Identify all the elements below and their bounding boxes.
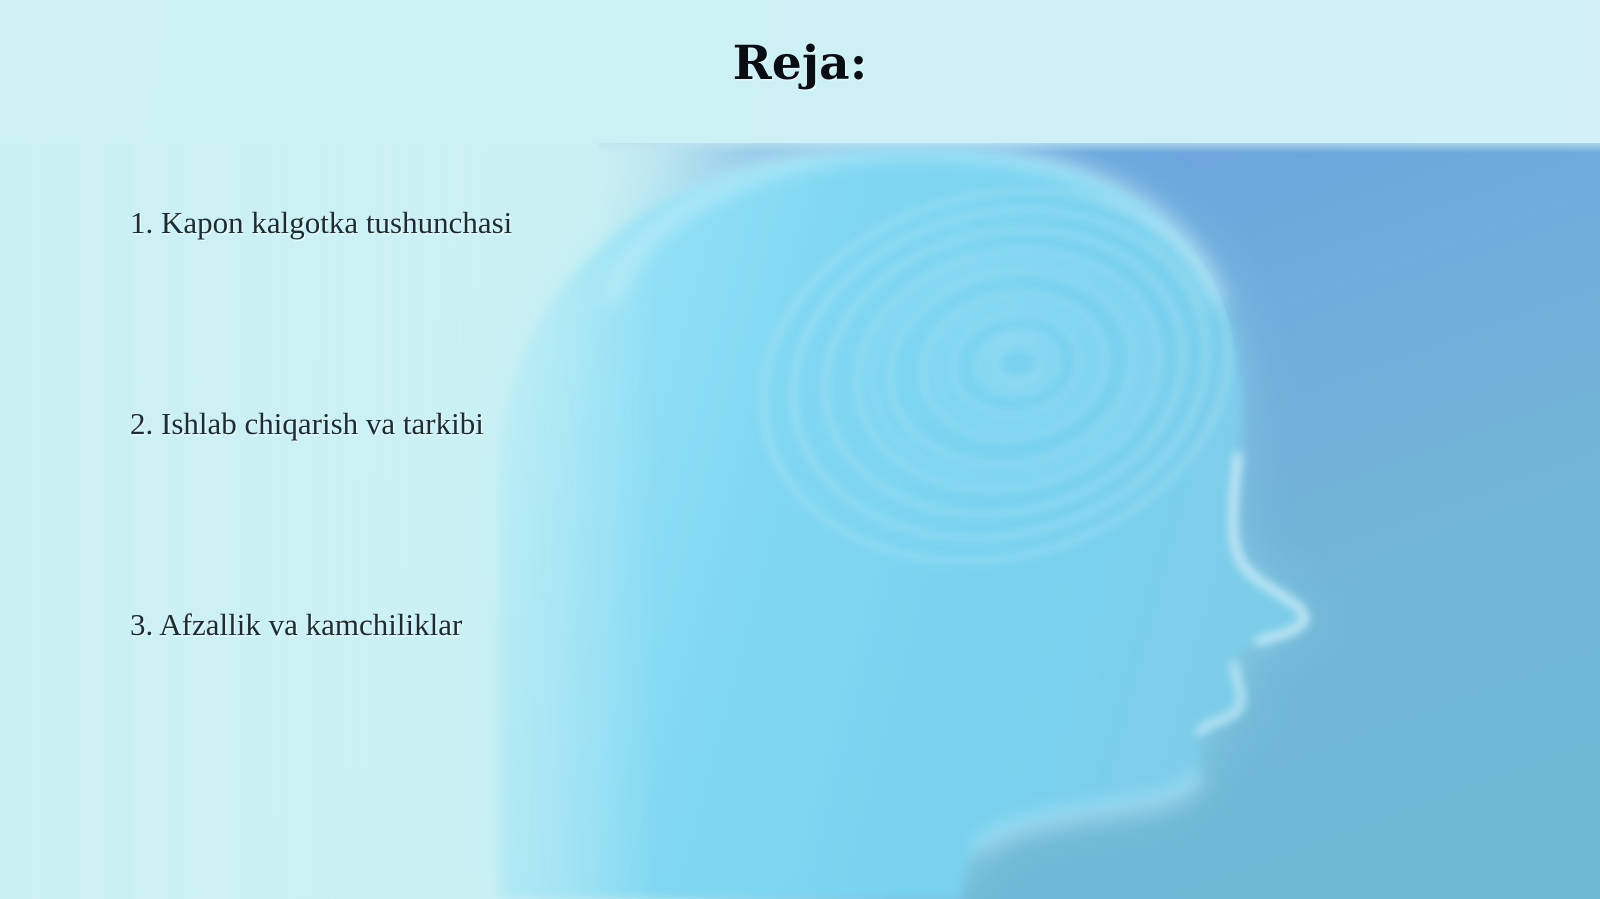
background-photo-top-fade — [598, 143, 1600, 153]
plan-item-1: 1. Kapon kalgotka tushunchasi — [130, 206, 910, 407]
page-title: Reja: — [0, 39, 1600, 90]
plan-item-3: 3. Afzallik va kamchiliklar — [130, 608, 910, 642]
plan-item-2: 2. Ishlab chiqarish va tarkibi — [130, 407, 910, 608]
slide-canvas: Reja: 1. Kapon kalgotka tushunchasi 2. I… — [0, 0, 1600, 899]
plan-list: 1. Kapon kalgotka tushunchasi 2. Ishlab … — [130, 206, 910, 642]
